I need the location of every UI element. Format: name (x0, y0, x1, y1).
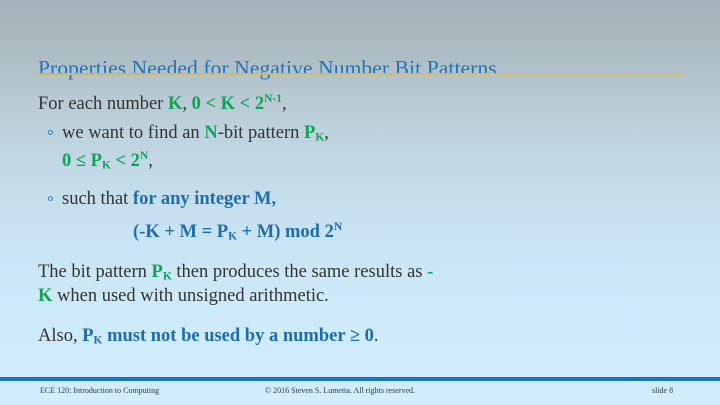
hollow-circle-bullet-icon (48, 130, 53, 135)
pk-base: P (304, 123, 315, 143)
line2-mid: -bit pattern (218, 123, 304, 143)
p2-emphasis: PK must not be used by a number ≥ 0 (82, 326, 374, 346)
pk-range-lt: < 2 (111, 151, 140, 171)
inequality-k-range: 0 < K < 2N-1 (192, 94, 282, 114)
line1-comma: , (182, 94, 191, 114)
line2-trailing-comma: , (324, 123, 329, 143)
line4-emphasis: for any integer M, (133, 189, 276, 209)
p1-s1: The bit pattern (38, 262, 152, 282)
equation-main: (-K + M = P (133, 222, 228, 242)
slide-canvas: Properties Needed for Negative Number Bi… (0, 0, 720, 405)
footer-slide-number: slide 8 (652, 386, 673, 395)
p1-pk-sub: K (163, 270, 172, 282)
body-line-4: such that for any integer M, (47, 187, 688, 212)
equation-mid: + M) mod 2 (237, 222, 334, 242)
pk-range-inequality: 0 ≤ PK < 2N (62, 151, 148, 171)
p2-s2: must not be used by a number ≥ 0 (102, 326, 373, 346)
equation-sup: N (334, 221, 342, 233)
slide-body: For each number K, 0 < K < 2N-1, we want… (38, 92, 688, 348)
pk-range-le: ≤ (76, 151, 86, 171)
pk-range-zero: 0 (62, 151, 76, 171)
p1-variable-pk: PK (152, 262, 172, 282)
line3-trailing-comma: , (148, 151, 153, 171)
line1-trailing-comma: , (282, 94, 287, 114)
variable-n: N (204, 123, 217, 143)
footer-copyright: © 2016 Steven S. Lumetta. All rights res… (265, 386, 415, 395)
equation-text: (-K + M = PK + M) mod 2N (133, 222, 342, 242)
paragraph-bit-pattern: The bit pattern PK then produces the sam… (38, 260, 438, 309)
p1-s3: when used with unsigned arithmetic. (52, 286, 328, 306)
footer-divider-bar (0, 377, 720, 381)
p1-s2: then produces the same results as (172, 262, 427, 282)
inequality-base: 0 < K < 2 (192, 94, 264, 114)
pk-range-sup: N (140, 150, 148, 162)
line2-prefix: we want to find an (62, 123, 204, 143)
p2-pk-base: P (82, 326, 93, 346)
paragraph-also-constraint: Also, PK must not be used by a number ≥ … (38, 324, 438, 349)
variable-pk: PK (304, 123, 324, 143)
footer-course-label: ECE 120: Introduction to Computing (40, 386, 159, 395)
pk-range-sub: K (102, 160, 111, 172)
equation-sub: K (228, 231, 237, 243)
variable-k: K (168, 94, 182, 114)
line1-prefix: For each number (38, 94, 168, 114)
p2-s3: . (374, 326, 379, 346)
body-line-2: we want to find an N-bit pattern PK, (47, 121, 688, 146)
pk-subscript: K (315, 131, 324, 143)
hollow-circle-bullet-icon (48, 196, 53, 201)
p1-pk-base: P (152, 262, 163, 282)
pk-range-p: P (86, 151, 102, 171)
p2-s1: Also, (38, 326, 82, 346)
body-line-1: For each number K, 0 < K < 2N-1, (38, 92, 688, 117)
line4-prefix: such that (62, 189, 133, 209)
title-divider-rule (36, 73, 684, 75)
page-title: Properties Needed for Negative Number Bi… (38, 54, 698, 82)
body-line-3: 0 ≤ PK < 2N, (62, 149, 688, 174)
equation-display: (-K + M = PK + M) mod 2N (133, 220, 688, 245)
inequality-exponent: N-1 (264, 93, 282, 105)
